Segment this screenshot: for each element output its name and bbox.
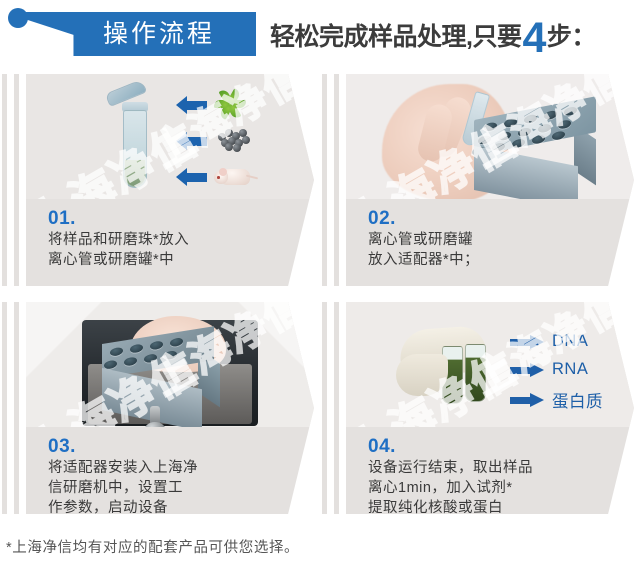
panel-stripe xyxy=(14,74,19,286)
step-panel-body: 上海净信 上海净信 03. 将适配器安装入上海净 信研磨机中，设置工 作参数，启… xyxy=(26,302,314,514)
source-row-animal xyxy=(176,168,207,186)
step-line: 离心管或研磨罐 xyxy=(368,230,479,250)
source-row-beads xyxy=(176,132,207,150)
output-row-dna: DNA xyxy=(510,332,588,351)
step-number: 02. xyxy=(368,208,396,230)
step-description: 设备运行结束，取出样品 离心1min，加入试剂* 提取纯化核酸或蛋白 xyxy=(368,458,533,514)
step-01-image: 上海净信 上海净信 xyxy=(26,74,314,199)
step-panel-body: 上海净信 上海净信 02. 离心管或研磨罐 放入适配器*中； xyxy=(346,74,634,286)
step-panel-04: DNA RNA 蛋白质 上海净信 上海净信 04. xyxy=(322,302,634,514)
header-subtitle: 轻松完成样品处理,只要 4 步： xyxy=(270,13,596,57)
arrow-left-icon xyxy=(176,96,187,114)
panel-stripe xyxy=(14,302,19,514)
panel-stripe xyxy=(2,302,7,514)
sample-vial-icon xyxy=(465,344,486,402)
beads-icon xyxy=(216,126,252,148)
output-row-rna: RNA xyxy=(510,360,588,379)
step-description: 将样品和研磨珠*放入 离心管或研磨罐*中 xyxy=(48,230,189,270)
step-number: 03. xyxy=(48,436,76,458)
arrow-left-icon xyxy=(176,132,187,150)
infographic-root: 操作流程 轻松完成样品处理,只要 4 步： xyxy=(0,0,636,573)
mouse-icon xyxy=(214,162,254,188)
centrifuge-tube-icon xyxy=(96,86,166,198)
step-line: 设备运行结束，取出样品 xyxy=(368,458,533,478)
arrow-tail xyxy=(187,137,207,146)
arrow-tail xyxy=(187,101,207,110)
step-line: 提取纯化核酸或蛋白 xyxy=(368,498,533,514)
step-line: 作参数，启动设备 xyxy=(48,498,198,514)
leaf-icon xyxy=(218,90,252,118)
step-panel-03: 上海净信 上海净信 03. 将适配器安装入上海净 信研磨机中，设置工 作参数，启… xyxy=(2,302,314,514)
step-number: 04. xyxy=(368,436,396,458)
step-02-image: 上海净信 上海净信 xyxy=(346,74,634,199)
source-row-plant xyxy=(176,96,207,114)
step-panel-02: 上海净信 上海净信 02. 离心管或研磨罐 放入适配器*中； xyxy=(322,74,634,286)
panel-stripe xyxy=(334,74,339,286)
output-label: RNA xyxy=(552,360,588,379)
arrow-left-icon xyxy=(176,168,187,186)
gloved-thumb xyxy=(396,354,448,396)
step-line: 信研磨机中，设置工 xyxy=(48,478,198,498)
step-panel-body: DNA RNA 蛋白质 上海净信 上海净信 04. xyxy=(346,302,634,514)
step-panel-01: 上海净信 上海净信 01. 将样品和研磨珠*放入 离心管或研磨罐*中 xyxy=(2,74,314,286)
step-line: 离心1min，加入试剂* xyxy=(368,478,533,498)
arrow-right-icon xyxy=(510,365,544,375)
header-subtitle-suffix: 步： xyxy=(547,17,596,53)
arrow-right-icon xyxy=(510,395,544,405)
panel-stripe xyxy=(322,302,327,514)
step-description: 将适配器安装入上海净 信研磨机中，设置工 作参数，启动设备 xyxy=(48,458,198,514)
step-03-image: 上海净信 上海净信 xyxy=(26,302,314,427)
output-label: 蛋白质 xyxy=(552,388,603,412)
panel-stripe xyxy=(334,302,339,514)
steps-grid: 上海净信 上海净信 01. 将样品和研磨珠*放入 离心管或研磨罐*中 xyxy=(0,74,636,526)
step-number: 01. xyxy=(48,208,76,230)
panel-stripe xyxy=(322,74,327,286)
panel-stripe xyxy=(2,74,7,286)
step-line: 将适配器安装入上海净 xyxy=(48,458,198,478)
header: 操作流程 轻松完成样品处理,只要 4 步： xyxy=(0,0,636,68)
arrow-right-icon xyxy=(510,337,544,347)
step-line: 将样品和研磨珠*放入 xyxy=(48,230,189,250)
step-line: 离心管或研磨罐*中 xyxy=(48,250,189,270)
step-04-image: DNA RNA 蛋白质 上海净信 上海净信 xyxy=(346,302,634,427)
footer-note: *上海净信均有对应的配套产品可供您选择。 xyxy=(6,536,299,557)
arrow-tail xyxy=(187,173,207,182)
step-panel-body: 上海净信 上海净信 01. 将样品和研磨珠*放入 离心管或研磨罐*中 xyxy=(26,74,314,286)
header-subtitle-prefix: 轻松完成样品处理,只要 xyxy=(270,17,521,53)
page-title: 操作流程 xyxy=(62,12,256,56)
step-description: 离心管或研磨罐 放入适配器*中； xyxy=(368,230,479,270)
output-row-protein: 蛋白质 xyxy=(510,388,603,412)
photo-frame-overlay xyxy=(26,302,314,427)
output-label: DNA xyxy=(552,332,588,351)
step-line: 放入适配器*中； xyxy=(368,250,479,270)
adapter-block-icon xyxy=(474,120,596,192)
header-step-count: 4 xyxy=(521,21,546,55)
